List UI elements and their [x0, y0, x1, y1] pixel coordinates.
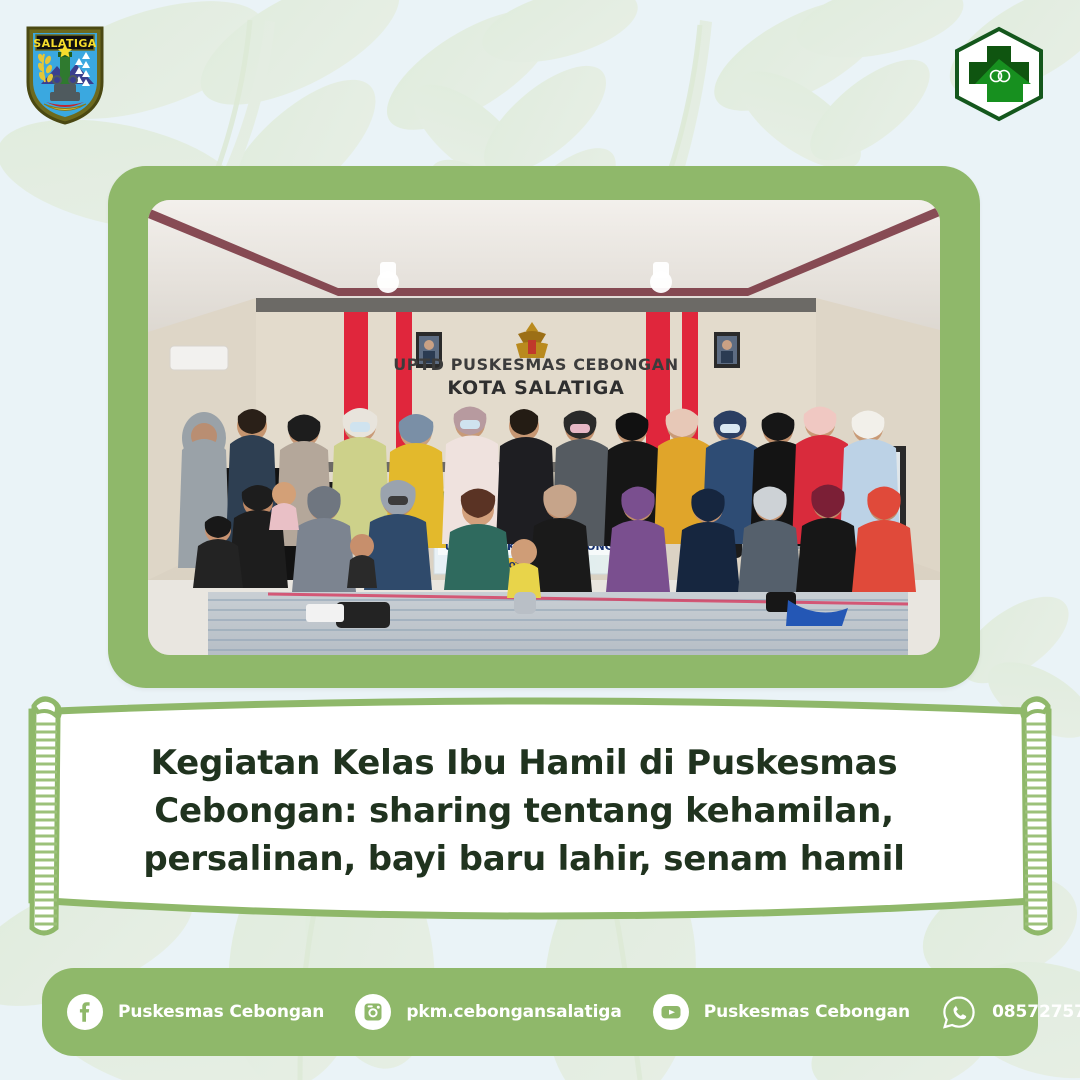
facebook-icon[interactable]	[66, 993, 104, 1031]
caption-text: Kegiatan Kelas Ibu Hamil di Puskesmas Ce…	[70, 739, 978, 884]
social-facebook-label: Puskesmas Cebongan	[118, 1002, 324, 1022]
caption-scroll-banner: Kegiatan Kelas Ibu Hamil di Puskesmas Ce…	[0, 686, 1080, 986]
instagram-icon[interactable]	[354, 993, 392, 1031]
poster-canvas: SALATIGA	[0, 0, 1080, 1080]
social-whatsapp[interactable]: 085727572760	[940, 993, 1080, 1031]
social-instagram[interactable]: pkm.cebongansalatiga	[354, 993, 621, 1031]
youtube-icon[interactable]	[652, 993, 690, 1031]
social-youtube[interactable]: Puskesmas Cebongan	[652, 993, 910, 1031]
svg-text:UPTD PUSKESMAS CEBONGAN: UPTD PUSKESMAS CEBONGAN	[393, 355, 679, 374]
social-footer-bar: Puskesmas Cebongan pkm.cebongansalatiga	[42, 968, 1038, 1056]
social-whatsapp-label: 085727572760	[992, 1002, 1080, 1022]
whatsapp-icon[interactable]	[940, 993, 978, 1031]
photo-frame: UPTD PUSKESMAS CEBONGAN KOTA SALATIGA LO…	[108, 166, 980, 688]
scroll-roll-left-icon	[20, 690, 66, 940]
caption-container: Kegiatan Kelas Ibu Hamil di Puskesmas Ce…	[70, 716, 978, 906]
salatiga-city-crest-icon: SALATIGA	[24, 22, 106, 126]
puskesmas-logo-icon	[949, 26, 1049, 122]
social-facebook[interactable]: Puskesmas Cebongan	[66, 993, 324, 1031]
social-instagram-label: pkm.cebongansalatiga	[406, 1002, 621, 1022]
svg-text:KOTA SALATIGA: KOTA SALATIGA	[447, 377, 624, 399]
scroll-roll-right-icon	[1016, 690, 1062, 940]
social-youtube-label: Puskesmas Cebongan	[704, 1002, 910, 1022]
event-photo: UPTD PUSKESMAS CEBONGAN KOTA SALATIGA LO…	[148, 200, 940, 655]
